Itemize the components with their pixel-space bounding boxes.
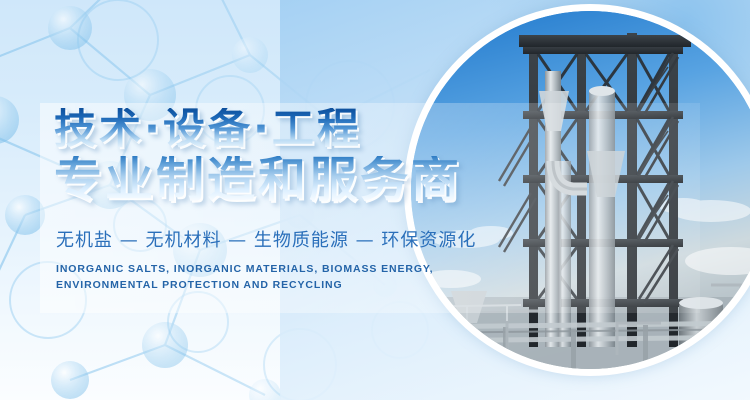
hero-banner: 技术·设备·工程 专业制造和服务商 无机盐 — 无机材料 — 生物质能源 — 环… (0, 0, 750, 400)
subtitle-chinese: 无机盐 — 无机材料 — 生物质能源 — 环保资源化 (56, 226, 484, 252)
headline-line-2: 专业制造和服务商 (54, 156, 484, 204)
banner-copy: 技术·设备·工程 专业制造和服务商 无机盐 — 无机材料 — 生物质能源 — 环… (54, 108, 484, 294)
headline-line-1: 技术·设备·工程 (54, 108, 484, 150)
subtitle-english: INORGANIC SALTS, INORGANIC MATERIALS, BI… (56, 261, 456, 294)
